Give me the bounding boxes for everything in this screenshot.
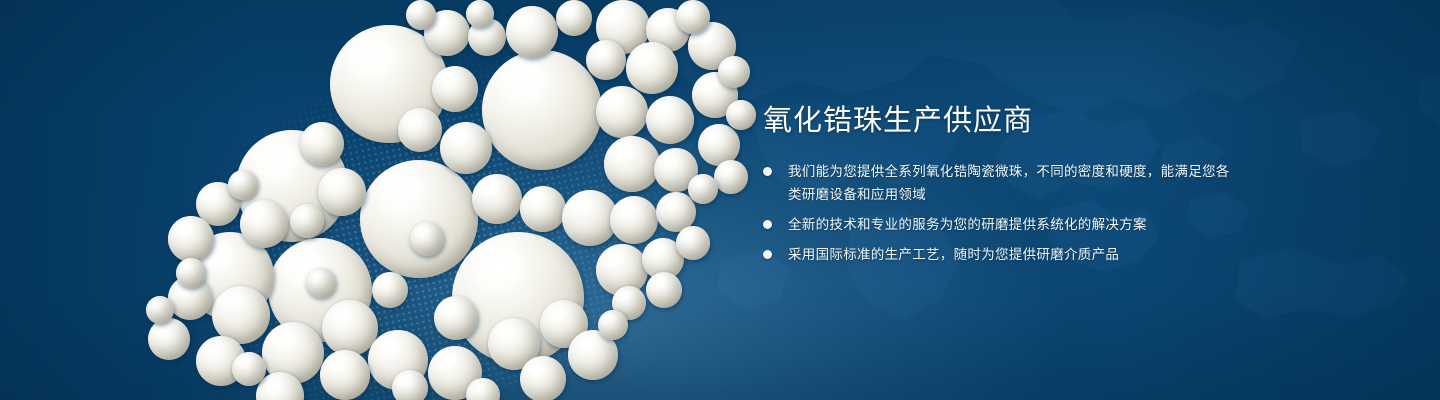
list-item-label: 采用国际标准的生产工艺，随时为您提供研磨介质产品: [788, 247, 1119, 262]
hero-banner: 氧化锆珠生产供应商 我们能为您提供全系列氧化锆陶瓷微珠，不同的密度和硬度，能满足…: [0, 0, 1440, 400]
bullet-dot-icon: [763, 167, 772, 176]
banner-copy: 氧化锆珠生产供应商 我们能为您提供全系列氧化锆陶瓷微珠，不同的密度和硬度，能满足…: [763, 104, 1233, 266]
banner-headline: 氧化锆珠生产供应商: [763, 104, 1233, 138]
list-item: 全新的技术和专业的服务为您的研磨提供系统化的解决方案: [763, 213, 1233, 236]
list-item-label: 全新的技术和专业的服务为您的研磨提供系统化的解决方案: [788, 217, 1147, 232]
bullet-dot-icon: [763, 250, 772, 259]
banner-feature-list: 我们能为您提供全系列氧化锆陶瓷微珠，不同的密度和硬度，能满足您各类研磨设备和应用…: [763, 160, 1233, 266]
list-item-label: 我们能为您提供全系列氧化锆陶瓷微珠，不同的密度和硬度，能满足您各类研磨设备和应用…: [788, 164, 1230, 202]
list-item: 采用国际标准的生产工艺，随时为您提供研磨介质产品: [763, 243, 1233, 266]
bullet-dot-icon: [763, 220, 772, 229]
list-item: 我们能为您提供全系列氧化锆陶瓷微珠，不同的密度和硬度，能满足您各类研磨设备和应用…: [763, 160, 1233, 206]
